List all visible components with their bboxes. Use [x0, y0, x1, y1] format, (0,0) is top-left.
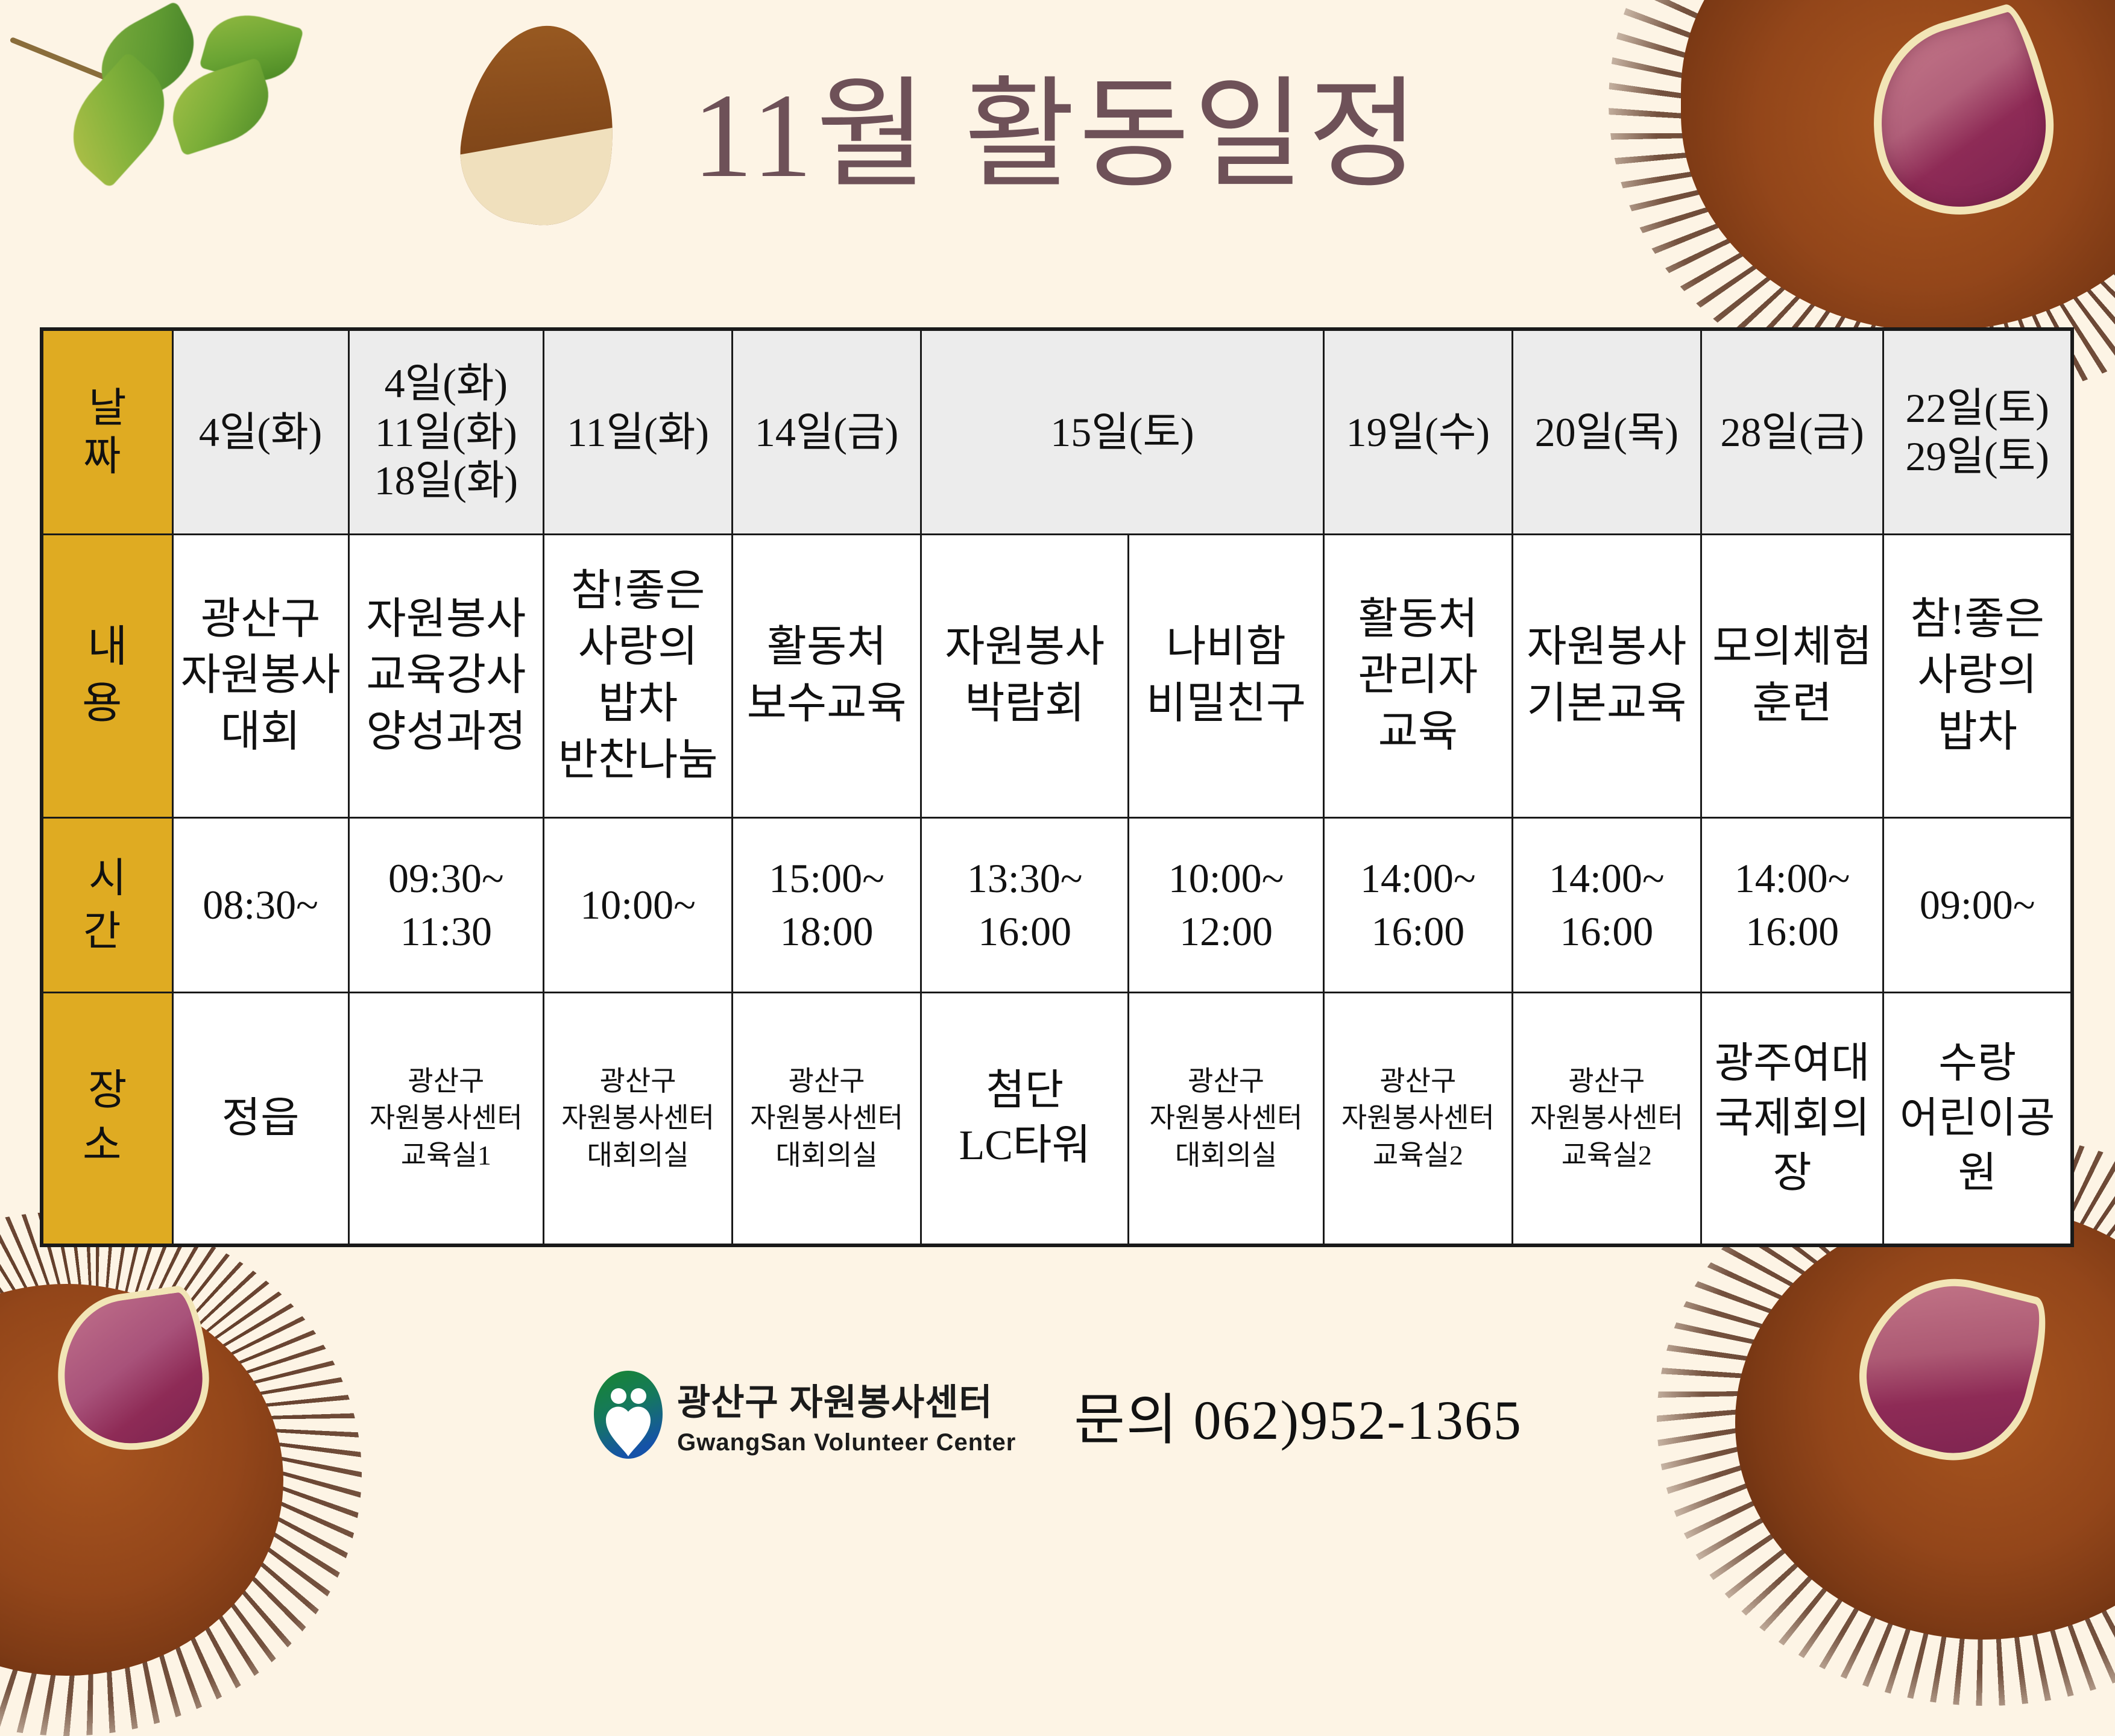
- date-header-cell: 14일(금): [733, 329, 921, 534]
- date-header-cell: 22일(토)29일(토): [1883, 329, 2072, 534]
- date-header-cell: 15일(토): [921, 329, 1324, 534]
- date-header-cell: 11일(화): [544, 329, 733, 534]
- content-cell: 광산구자원봉사대회: [172, 534, 348, 817]
- place-cell: 광산구자원봉사센터교육실1: [348, 992, 543, 1245]
- place-cell: 광산구자원봉사센터대회의실: [1129, 992, 1323, 1245]
- logo-text-block: 광산구 자원봉사센터 GwangSan Volunteer Center: [677, 1373, 1016, 1456]
- place-cell: 첨단LC타워: [921, 992, 1129, 1245]
- time-cell: 09:00~: [1883, 817, 2072, 992]
- content-cell: 자원봉사박람회: [921, 534, 1129, 817]
- chestnut-husk-spikes-bottom-left: [0, 1212, 362, 1736]
- time-cell: 10:00~: [544, 817, 733, 992]
- content-cell: 모의체험훈련: [1701, 534, 1883, 817]
- table-row-content: 내 용 광산구자원봉사대회자원봉사교육강사양성과정참!좋은사랑의밥차반찬나눔활동…: [42, 534, 2072, 817]
- table-row-date: 날 짜 4일(화)4일(화)11일(화)18일(화)11일(화)14일(금)15…: [42, 329, 2072, 534]
- place-cell: 광산구자원봉사센터대회의실: [733, 992, 921, 1245]
- time-cell: 10:00~12:00: [1129, 817, 1323, 992]
- row-label-date: 날 짜: [42, 329, 172, 534]
- time-cell: 14:00~16:00: [1512, 817, 1701, 992]
- date-header-cell: 20일(목): [1512, 329, 1701, 534]
- page-title: 11월 활동일정: [0, 36, 2115, 211]
- content-cell: 참!좋은사랑의밥차반찬나눔: [544, 534, 733, 817]
- place-cell: 광주여대국제회의장: [1701, 992, 1883, 1245]
- volunteer-center-logo-icon: [593, 1370, 664, 1460]
- date-header-cell: 4일(화): [172, 329, 348, 534]
- time-cell: 13:30~16:00: [921, 817, 1129, 992]
- logo-name-english: GwangSan Volunteer Center: [677, 1429, 1016, 1456]
- place-cell: 광산구자원봉사센터교육실2: [1512, 992, 1701, 1245]
- time-cell: 15:00~18:00: [733, 817, 921, 992]
- date-header-cell: 28일(금): [1701, 329, 1883, 534]
- content-cell: 활동처관리자교육: [1323, 534, 1512, 817]
- footer: 광산구 자원봉사센터 GwangSan Volunteer Center 문의 …: [0, 1370, 2115, 1460]
- place-cell: 광산구자원봉사센터대회의실: [544, 992, 733, 1245]
- chestnut-husk-bottom-left: [0, 1284, 283, 1676]
- contact-phone: 문의 062)952-1365: [1074, 1375, 1522, 1455]
- time-cell: 09:30~11:30: [348, 817, 543, 992]
- time-cell: 14:00~16:00: [1323, 817, 1512, 992]
- content-cell: 활동처보수교육: [733, 534, 921, 817]
- schedule-table-wrapper: 날 짜 4일(화)4일(화)11일(화)18일(화)11일(화)14일(금)15…: [40, 327, 2074, 1247]
- date-header-cell: 19일(수): [1323, 329, 1512, 534]
- place-cell: 정읍: [172, 992, 348, 1245]
- logo-name-korean: 광산구 자원봉사센터: [677, 1373, 1016, 1426]
- organization-logo: 광산구 자원봉사센터 GwangSan Volunteer Center: [593, 1370, 1016, 1460]
- content-cell: 자원봉사기본교육: [1512, 534, 1701, 817]
- schedule-table: 날 짜 4일(화)4일(화)11일(화)18일(화)11일(화)14일(금)15…: [40, 327, 2074, 1247]
- date-header-cell: 4일(화)11일(화)18일(화): [348, 329, 543, 534]
- time-cell: 08:30~: [172, 817, 348, 992]
- place-cell: 광산구자원봉사센터교육실2: [1323, 992, 1512, 1245]
- content-cell: 나비함비밀친구: [1129, 534, 1323, 817]
- content-cell: 참!좋은사랑의밥차: [1883, 534, 2072, 817]
- content-cell: 자원봉사교육강사양성과정: [348, 534, 543, 817]
- row-label-place: 장 소: [42, 992, 172, 1245]
- table-row-place: 장 소 정읍광산구자원봉사센터교육실1광산구자원봉사센터대회의실광산구자원봉사센…: [42, 992, 2072, 1245]
- row-label-time: 시 간: [42, 817, 172, 992]
- row-label-content: 내 용: [42, 534, 172, 817]
- time-cell: 14:00~16:00: [1701, 817, 1883, 992]
- table-row-time: 시 간 08:30~09:30~11:3010:00~15:00~18:0013…: [42, 817, 2072, 992]
- place-cell: 수랑어린이공원: [1883, 992, 2072, 1245]
